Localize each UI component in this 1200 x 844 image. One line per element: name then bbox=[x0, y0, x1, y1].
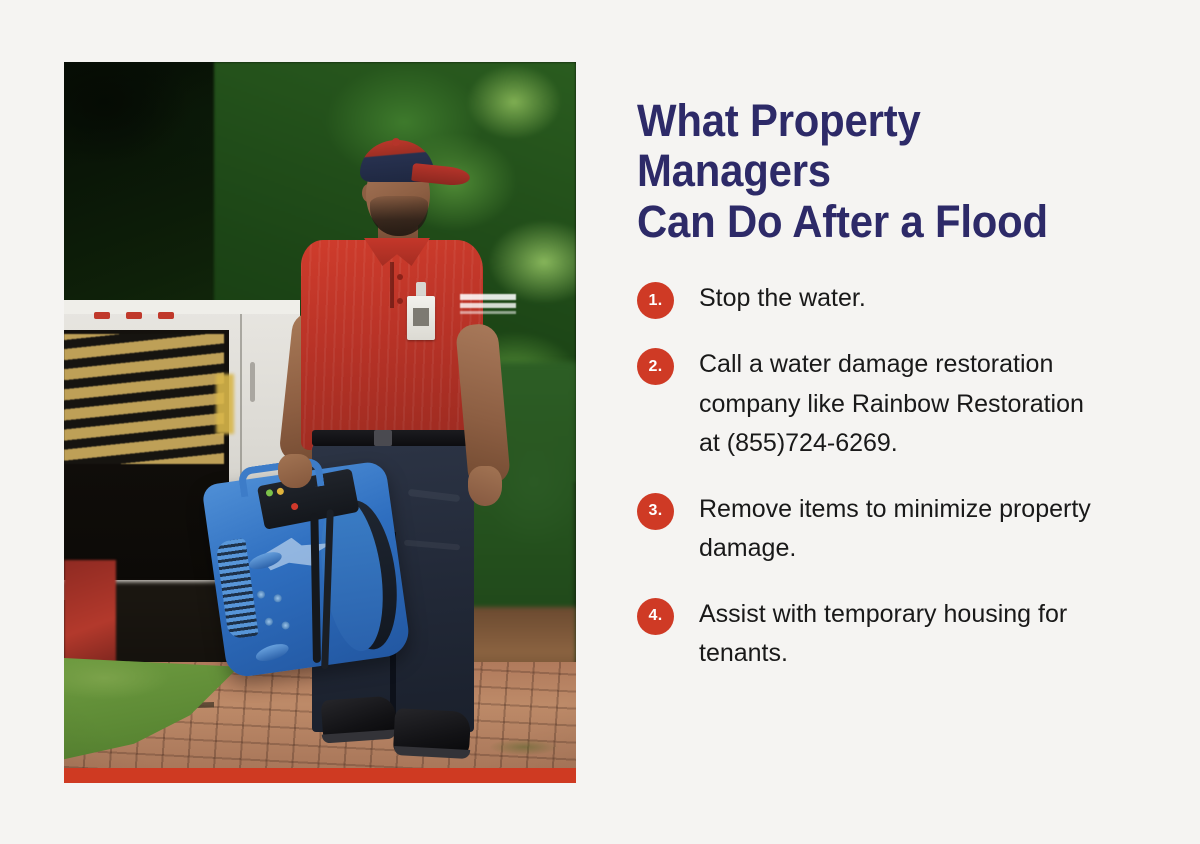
step-text: Call a water damage restoration company … bbox=[699, 345, 1099, 464]
infographic-canvas: What Property Managers Can Do After a Fl… bbox=[0, 0, 1200, 844]
yellow-slat-ramp bbox=[64, 334, 224, 464]
step-number-badge: 4. bbox=[637, 598, 674, 635]
truck-marker-light bbox=[94, 312, 110, 319]
truck-door-handle bbox=[250, 362, 255, 402]
technician-photo bbox=[64, 62, 576, 768]
id-badge bbox=[407, 296, 435, 340]
belt-buckle bbox=[374, 430, 392, 446]
list-item: 2. Call a water damage restoration compa… bbox=[637, 345, 1137, 464]
technician-right-hand bbox=[278, 454, 312, 488]
step-text: Remove items to minimize property damage… bbox=[699, 490, 1099, 569]
step-number-badge: 2. bbox=[637, 348, 674, 385]
air-mover-bolt bbox=[257, 590, 266, 599]
list-item: 3. Remove items to minimize property dam… bbox=[637, 490, 1137, 569]
page-title: What Property Managers Can Do After a Fl… bbox=[637, 96, 1102, 247]
air-mover-power-cord bbox=[310, 513, 321, 663]
step-number-badge: 1. bbox=[637, 282, 674, 319]
truck-marker-light bbox=[158, 312, 174, 319]
truck-marker-light bbox=[126, 312, 142, 319]
air-mover-intake-grille bbox=[215, 538, 258, 639]
air-mover-bolt bbox=[273, 594, 282, 603]
step-text: Stop the water. bbox=[699, 279, 866, 319]
blue-air-mover bbox=[201, 460, 411, 679]
photo-panel bbox=[64, 62, 576, 782]
photo-accent-bar bbox=[64, 768, 576, 783]
technician-left-hand bbox=[468, 466, 502, 506]
truck-interior-equipment bbox=[216, 374, 234, 434]
air-mover-bolt bbox=[281, 621, 290, 630]
rainbow-restoration-logo bbox=[460, 294, 516, 316]
list-item: 1. Stop the water. bbox=[637, 279, 1137, 319]
ball-cap-button bbox=[392, 138, 400, 146]
list-item: 4. Assist with temporary housing for ten… bbox=[637, 595, 1137, 674]
polo-placket bbox=[390, 262, 394, 308]
air-mover-vent bbox=[247, 549, 284, 573]
air-mover-vent bbox=[254, 641, 291, 665]
air-mover-bolt bbox=[264, 617, 273, 626]
photo-scene bbox=[64, 62, 576, 768]
polo-button bbox=[397, 298, 403, 304]
polo-button bbox=[397, 274, 403, 280]
step-text: Assist with temporary housing for tenant… bbox=[699, 595, 1099, 674]
step-number-badge: 3. bbox=[637, 493, 674, 530]
content-column: What Property Managers Can Do After a Fl… bbox=[637, 96, 1137, 674]
steps-list: 1. Stop the water. 2. Call a water damag… bbox=[637, 279, 1137, 674]
